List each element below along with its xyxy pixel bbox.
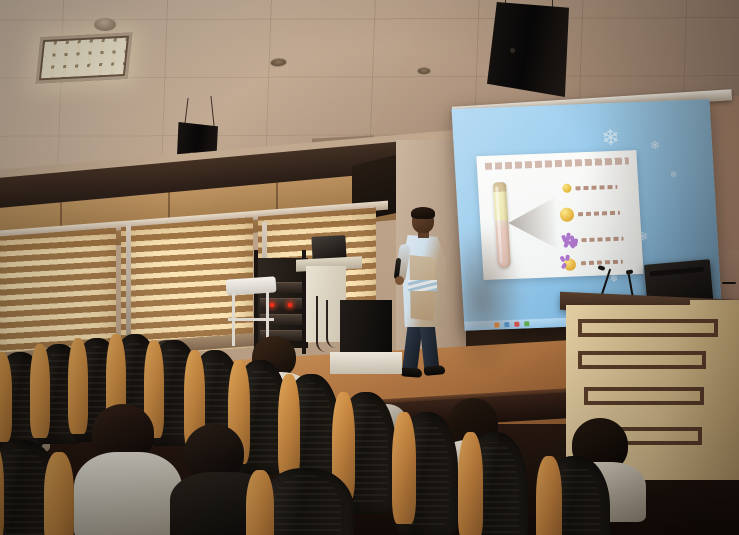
presenter-leg xyxy=(420,322,440,371)
ceiling-speaker-right xyxy=(487,2,569,97)
seat-arm-pad xyxy=(278,374,300,480)
panel-inlay xyxy=(578,319,718,337)
presenter-hand xyxy=(395,276,404,285)
seat-arm-pad xyxy=(458,432,483,535)
presenter-shoe xyxy=(401,367,423,377)
seat-arm-pad xyxy=(68,338,88,434)
smoke-detector-icon xyxy=(94,18,116,31)
seat-arm-pad xyxy=(536,456,562,535)
presenter-garment-pattern xyxy=(408,280,437,291)
seat-arm-pad xyxy=(30,344,50,438)
attendee-torso xyxy=(74,452,182,535)
blind-divider xyxy=(126,222,131,350)
eyeglasses-icon xyxy=(412,216,431,220)
seat-arm-pad xyxy=(392,412,416,524)
downlight-icon xyxy=(417,67,431,75)
presenter xyxy=(396,208,454,380)
floor-speaker xyxy=(340,300,392,356)
gooseneck-microphone xyxy=(722,282,736,284)
status-led-icon xyxy=(288,303,292,307)
seat-arm-pad xyxy=(44,452,74,535)
cable xyxy=(326,300,336,348)
presenter-shoe xyxy=(424,365,446,376)
panel-inlay xyxy=(578,351,706,369)
speaker-base xyxy=(330,352,402,374)
panel-inlay xyxy=(584,387,704,405)
ceiling-light-fixture xyxy=(36,32,133,83)
light-louver-grid xyxy=(41,38,127,79)
presenter-shadow xyxy=(460,225,524,375)
seat-arm-pad xyxy=(246,470,274,535)
lecture-hall-photo: ❄ ❄ ❄ ❄ ❄ ❄ xyxy=(0,0,739,535)
